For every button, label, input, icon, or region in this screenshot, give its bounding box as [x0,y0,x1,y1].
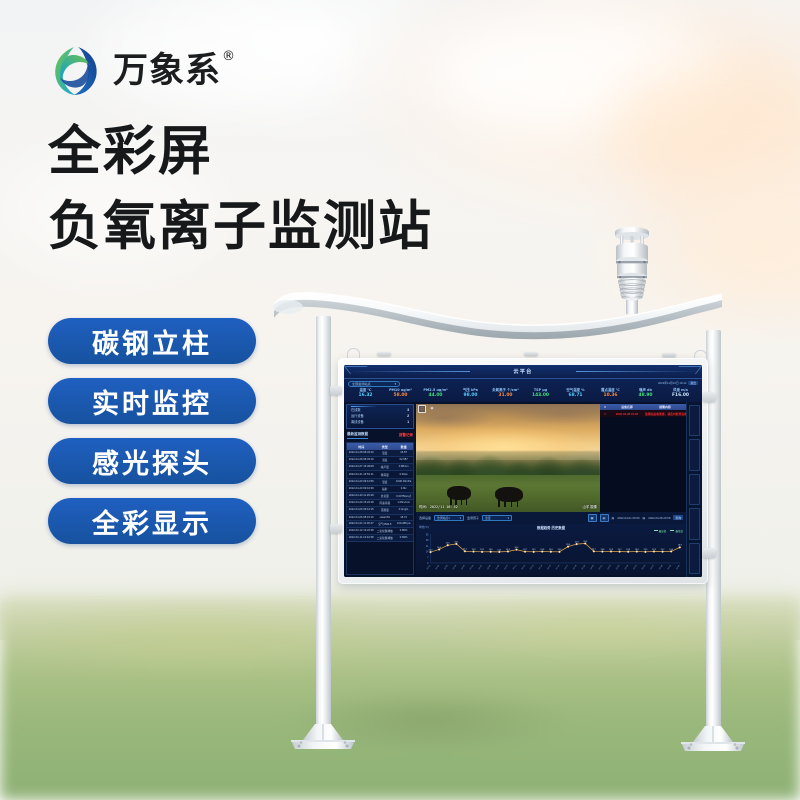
table-row[interactable]: 2022-04-21 16:53:11降雨量0.00ps [347,471,413,478]
table-cell: 辐射 [375,486,394,492]
table-row[interactable]: 2022-04-20 09:12:56温度1030.16mPa [347,479,413,486]
metric-item: 空气湿度 % 68.71 [558,388,593,400]
column-header-message: 报警内容 [644,404,686,411]
table-cell: 2022-04-28 08:33:19 [347,457,375,463]
metric-item: 负氧离子 个/cm³ 31.00 [488,388,523,400]
svg-text:04-21: 04-21 [599,565,604,570]
svg-text:28: 28 [426,540,429,542]
brand-name: 万象系 ® [113,54,221,89]
svg-text:13.8: 13.8 [635,549,639,551]
svg-text:04-04: 04-04 [453,564,458,570]
video-toolbar: ⛶ ◉ [418,405,435,413]
cow-silhouette [495,487,523,502]
post-base-plate [285,722,361,752]
grid-view-icon[interactable]: ▦ [588,514,597,522]
svg-text:13.8: 13.8 [472,549,476,551]
svg-text:04-10: 04-10 [504,564,509,570]
screen-side-bracket [702,548,716,558]
metric-value: 31.00 [488,393,523,400]
device-select-label: 选择设备 [419,516,431,520]
column-header-device: 设备名称 [610,404,644,411]
table-cell: 2022-03-12 13:22:38 [347,528,375,534]
table-cell: 二氧化碳排放 [375,535,394,541]
center-panel: ⛶ ◉ 时间: 2022/11 16：42 山羊 摄像 # 设备名称 报警内容 [416,402,686,577]
table-cell: 2022-04-06 09:12:15 [347,507,375,513]
table-cell: 15.87 [394,450,413,456]
dashboard-header: 云平台 [344,365,702,379]
svg-text:04-28: 04-28 [659,565,664,570]
table-cell: 0.80% [394,528,413,534]
product-marketing-image: 万象系 ® 全彩屏 负氧离子监测站 碳钢立柱 实时监控 感光探头 全彩显示 [0,0,800,800]
svg-text:19.8: 19.8 [566,544,570,546]
headline-line-2: 负氧离子监测站 [48,198,433,256]
svg-text:04-24: 04-24 [625,564,630,570]
factor-select[interactable]: 温度 ▾ [482,515,512,521]
svg-text:04-18: 04-18 [573,565,578,570]
metric-item: PM2.5 ug/m³ 44.00 [418,388,453,400]
table-row[interactable]: 2022-04-20 11:26:28负氧量0.0075Gr/㎡ [347,493,413,500]
svg-text:04-16: 04-16 [556,565,561,570]
svg-text:04-05: 04-05 [461,565,466,570]
records-table-body: 2022-04-28 08:33:19温度15.872022-04-28 08:… [347,450,413,542]
svg-text:04-01: 04-01 [427,565,432,570]
alarm-row[interactable]: 12022-04-28 15:22监测站设备离线，请及时检查设备状态 [600,410,686,417]
video-timestamp: 时间: 2022/11 16：42 [419,504,458,509]
side-widget[interactable] [689,405,700,436]
alarm-panel: # 设备名称 报警内容 12022-04-28 15:22监测站设备离线，请及时… [600,404,686,512]
table-row[interactable]: 2022-03-12 13:22:38二氧化碳排放0.80% [347,528,413,535]
svg-text:13.2: 13.2 [429,549,433,551]
svg-text:23.1: 23.1 [454,541,458,543]
table-cell: 2022-04-28 08:33:19 [347,450,375,456]
svg-text:13.9: 13.9 [506,549,510,551]
table-cell: 噪声量 [375,464,394,470]
svg-text:13.6: 13.6 [549,549,553,551]
table-cell: 100.288 pa [394,521,413,527]
date-start[interactable]: 2022-04-01 00:00 [617,516,639,520]
table-cell: 2022-04-20 15:22:18 [347,500,375,506]
table-cell: 2022-04-20 09:10:39 [347,486,375,492]
table-cell: 0.00ps [394,471,413,477]
alarm-records-link[interactable]: 报警记录 [399,433,413,438]
cow-leg [498,500,499,507]
site-select-dropdown[interactable]: 全部监测站点 ▾ [348,381,400,387]
svg-text:13.5: 13.5 [558,549,562,551]
alarm-cell: 2022-04-28 15:22 [610,410,644,417]
post-base-plate [675,724,751,754]
video-location-tag: 山羊 摄像 [582,504,597,509]
svg-text:04-27: 04-27 [650,565,655,570]
screen-side-bracket [330,524,342,533]
cow-leg [517,500,518,507]
svg-text:13.7: 13.7 [618,549,622,551]
header-status-group: 2023年11月04日 16:42 退出 [658,381,698,385]
table-cell: solar/d% [375,515,394,520]
device-select[interactable]: 监测站点1 ▾ [434,515,464,521]
svg-text:04-09: 04-09 [496,565,501,570]
cow-leg [504,500,505,507]
header-corner-tick [344,366,373,374]
globe-swirl-logo-icon [48,44,102,98]
date-end[interactable]: 2022-04-28 23:59 [648,516,670,520]
svg-text:14: 14 [426,551,429,553]
screen-top-bracket [377,352,391,356]
video-row: ⛶ ◉ 时间: 2022/11 16：42 山羊 摄像 # 设备名称 报警内容 [416,404,686,512]
table-row[interactable]: 2022-04-27 16:49:08噪声量0.88mm [347,464,413,471]
side-widget[interactable] [689,508,700,539]
table-cell: 负氧量 [375,493,394,499]
brand-name-text: 万象系 [113,51,221,91]
records-title: 最新监测数据 [347,432,368,439]
alarm-table-body: 12022-04-28 15:22监测站设备离线，请及时检查设备状态 [600,410,686,417]
metric-value: 143.00 [523,393,558,400]
svg-text:04-11: 04-11 [513,565,517,570]
records-table: 时间 类型 数值 2022-04-28 08:33:19温度15.872022-… [346,442,414,575]
support-post-right [706,330,721,730]
svg-text:13.7: 13.7 [523,549,527,551]
svg-text:04-07: 04-07 [478,565,483,570]
left-panel: 在线数 3 运行设备 2 离线设备 1 最新监测数据 [344,402,416,577]
table-cell: 1.05m/min [394,500,413,506]
svg-text:13.6: 13.6 [626,549,630,551]
metric-item: TSP μg 143.00 [523,388,558,400]
table-cell: 2022-04-01 11:30:47 [347,521,375,527]
header-datetime: 2023年11月04日 16:42 [658,381,686,385]
svg-text:13.5: 13.5 [480,549,484,551]
svg-text:04-17: 04-17 [564,565,569,570]
camera-snapshot-icon[interactable]: ◉ [429,405,435,411]
right-panel [686,402,702,577]
metric-item: 温度 ℃ 16.32 [348,388,383,400]
wave-canopy [272,285,724,345]
svg-text:21.5: 21.5 [446,542,450,544]
metric-value: F16.00 [663,393,698,400]
site-select-value: 全部监测站点 [352,381,371,386]
table-cell: 2022-04-20 11:26:28 [347,493,375,499]
metric-item: 风速 m/s F16.00 [663,388,698,400]
svg-text:04-15: 04-15 [547,565,552,570]
alarm-cell: 1 [600,410,610,417]
cow-silhouette [447,486,471,500]
table-row[interactable]: 2022-04-28 08:33:19温度15.87 [347,450,413,457]
calendar-icon[interactable]: ▤ [612,516,615,520]
svg-text:04-12: 04-12 [521,565,526,570]
svg-text:13.5: 13.5 [532,549,536,551]
table-cell: 2022-03-11 13:42:38 [347,535,375,541]
grass-field-background [0,600,800,800]
device-stats-box: 在线数 3 运行设备 2 离线设备 1 [346,404,414,430]
table-cell: 0.0075Gr/㎡ [394,493,413,499]
feature-badge: 感光探头 [48,438,256,484]
svg-text:04-26: 04-26 [642,565,647,570]
svg-text:04-13: 04-13 [530,565,535,570]
svg-text:04-30: 04-30 [676,564,681,570]
metric-value: 10.36 [593,393,628,400]
svg-text:21: 21 [426,546,429,548]
side-widget[interactable] [689,439,700,470]
svg-text:13.4: 13.4 [497,549,502,551]
metric-item: 噪声 db 48.90 [628,388,663,400]
table-cell: 温度 [375,450,394,456]
display-screen[interactable]: 云平台 全部监测站点 ▾ 2023年11月04日 16:42 退出 温度 ℃ 1… [344,365,702,577]
svg-text:13.6: 13.6 [489,549,493,551]
svg-text:14.2: 14.2 [463,548,467,550]
side-widget[interactable] [689,474,700,505]
alarm-table-header: # 设备名称 报警内容 [600,404,686,411]
factor-select-value: 温度 [485,516,491,520]
header-corner-tick [673,366,702,374]
table-row[interactable]: 2022-04-01 11:30:47空气PM2.5100.288 pa [347,521,413,528]
svg-text:13.9: 13.9 [609,549,613,551]
svg-text:04-03: 04-03 [444,565,449,570]
display-panel-frame: 云平台 全部监测站点 ▾ 2023年11月04日 16:42 退出 温度 ℃ 1… [338,358,708,584]
table-cell: 空气PM2.5 [375,521,394,527]
table-cell: 2022-04-21 16:53:11 [347,471,375,477]
svg-text:13.5: 13.5 [643,549,647,551]
metric-value: 48.90 [628,393,663,400]
table-cell: 2022-04-06 08:15:16 [347,515,375,520]
table-cell: 62.587 [394,457,413,463]
table-cell: 蒸腾量 [375,507,394,513]
svg-text:22.9: 22.9 [575,541,579,543]
metric-value: 44.00 [418,393,453,400]
svg-text:04-22: 04-22 [607,565,612,570]
svg-text:04-23: 04-23 [616,565,621,570]
trend-chart: 单位(℃) 数据趋势 历史数据 最高值 最低值 071421283513.216… [416,524,686,575]
table-cell: 湿度 [375,457,394,463]
metric-item: 露点温度 ℃ 10.36 [593,388,628,400]
table-cell: 2022-04-27 16:49:08 [347,464,375,470]
column-header-index: # [600,404,610,411]
svg-text:7: 7 [427,557,429,559]
query-button[interactable]: 查询 [673,515,683,520]
metric-item: PM10 ug/m³ 58.00 [383,388,418,400]
metric-value: 16.32 [348,393,383,400]
table-cell: 0.69% [394,535,413,541]
metric-value: 68.71 [558,393,593,400]
feature-badge: 实时监控 [48,378,256,424]
dashboard-body: 在线数 3 运行设备 2 离线设备 1 最新监测数据 [344,402,702,577]
table-row[interactable]: 2022-04-28 08:33:19湿度62.587 [347,457,413,464]
factor-select-label: 监测因子 [467,516,479,520]
svg-text:04-14: 04-14 [539,564,544,570]
table-cell: 温度 [375,479,394,485]
table-cell: 降雨量 [375,471,394,477]
support-post-left [316,316,331,728]
metrics-bar: 全部监测站点 ▾ 2023年11月04日 16:42 退出 温度 ℃ 16.32… [344,379,702,402]
svg-text:13.8: 13.8 [601,549,605,551]
table-cell: 二氧化碳排放 [375,528,394,534]
cow-leg [466,498,467,505]
metric-row: 温度 ℃ 16.32 PM10 ug/m³ 58.00 PM2.5 ug/m³ … [348,388,698,400]
svg-text:13.8: 13.8 [540,549,544,551]
chart-controls: 选择设备 监测站点1 ▾ 监测因子 温度 ▾ ▦ ▤ ▤ [416,512,686,524]
svg-text:04-29: 04-29 [667,565,672,570]
records-header: 最新监测数据 报警记录 [346,431,414,440]
svg-text:18.9: 18.9 [678,544,682,546]
chevron-down-icon: ▾ [508,516,509,520]
chevron-down-icon: ▾ [460,516,461,520]
table-cell: 0.0lx [394,486,413,492]
chart-plot-area: 071421283513.216.421.523.114.213.813.513… [416,530,686,575]
svg-text:04-25: 04-25 [633,565,638,570]
svg-text:04-20: 04-20 [590,564,595,570]
chevron-down-icon: ▾ [394,382,396,386]
table-row[interactable]: 2022-04-06 09:12:15蒸腾量0.4mg/L [347,507,413,514]
list-view-icon[interactable]: ▤ [600,514,609,522]
svg-text:04-08: 04-08 [487,565,492,570]
cow-leg [511,500,512,507]
stat-label: 离线设备 [351,420,364,426]
table-row[interactable]: 2022-03-11 13:42:38二氧化碳排放0.69% [347,535,413,542]
svg-text:04-19: 04-19 [582,565,587,570]
calendar-icon[interactable]: ▤ [642,516,645,520]
table-row[interactable]: 2022-04-20 15:22:18风速等级1.05m/min [347,500,413,507]
screen-top-bracket [524,352,538,356]
metric-value: 58.00 [383,393,418,400]
table-cell: 1030.16mPa [394,479,413,485]
chart-y-axis-label: 单位(℃) [419,525,429,529]
svg-text:23.6: 23.6 [583,541,587,543]
svg-text:04-02: 04-02 [435,565,440,570]
table-cell: 2022-04-20 09:12:56 [347,479,375,485]
svg-text:13.9: 13.9 [652,549,656,551]
svg-text:14.1: 14.1 [592,548,596,550]
metric-item: 气压 kPa 98.00 [453,388,488,400]
screen-top-bracket [662,353,676,357]
stat-row: 离线设备 1 [351,420,409,426]
brand-logo: 万象系 ® [48,44,221,98]
fullscreen-icon[interactable]: ⛶ [418,405,426,413]
trademark-symbol: ® [222,50,236,63]
alarm-cell: 监测站设备离线，请及时检查设备状态 [644,410,686,417]
device-select-value: 监测站点1 [437,516,450,520]
svg-text:35: 35 [426,534,429,536]
table-cell: 18.72 [394,515,413,520]
camera-feed[interactable]: ⛶ ◉ 时间: 2022/11 16：42 山羊 摄像 [416,404,600,512]
headline-line-1: 全彩屏 [48,123,213,181]
svg-text:13.7: 13.7 [661,549,665,551]
metric-value: 98.00 [453,393,488,400]
screen-side-bracket [702,392,716,402]
feature-badge: 碳钢立柱 [48,318,256,364]
table-cell: 0.4mg/L [394,507,413,513]
dashboard-title: 云平台 [513,368,532,375]
cow-leg [461,498,462,505]
side-widget[interactable] [689,543,700,574]
screen-side-bracket [330,386,342,395]
svg-text:04-06: 04-06 [470,565,475,570]
table-cell: 0.88mm [394,464,413,470]
feature-badge: 全彩显示 [48,498,256,544]
feature-badge-list: 碳钢立柱 实时监控 感光探头 全彩显示 [48,318,256,544]
table-row[interactable]: 2022-04-20 09:10:39辐射0.0lx [347,486,413,493]
stat-value: 1 [407,420,409,426]
svg-text:16.2: 16.2 [515,547,519,549]
table-cell: 风速等级 [375,500,394,506]
logout-button[interactable]: 退出 [688,381,698,385]
